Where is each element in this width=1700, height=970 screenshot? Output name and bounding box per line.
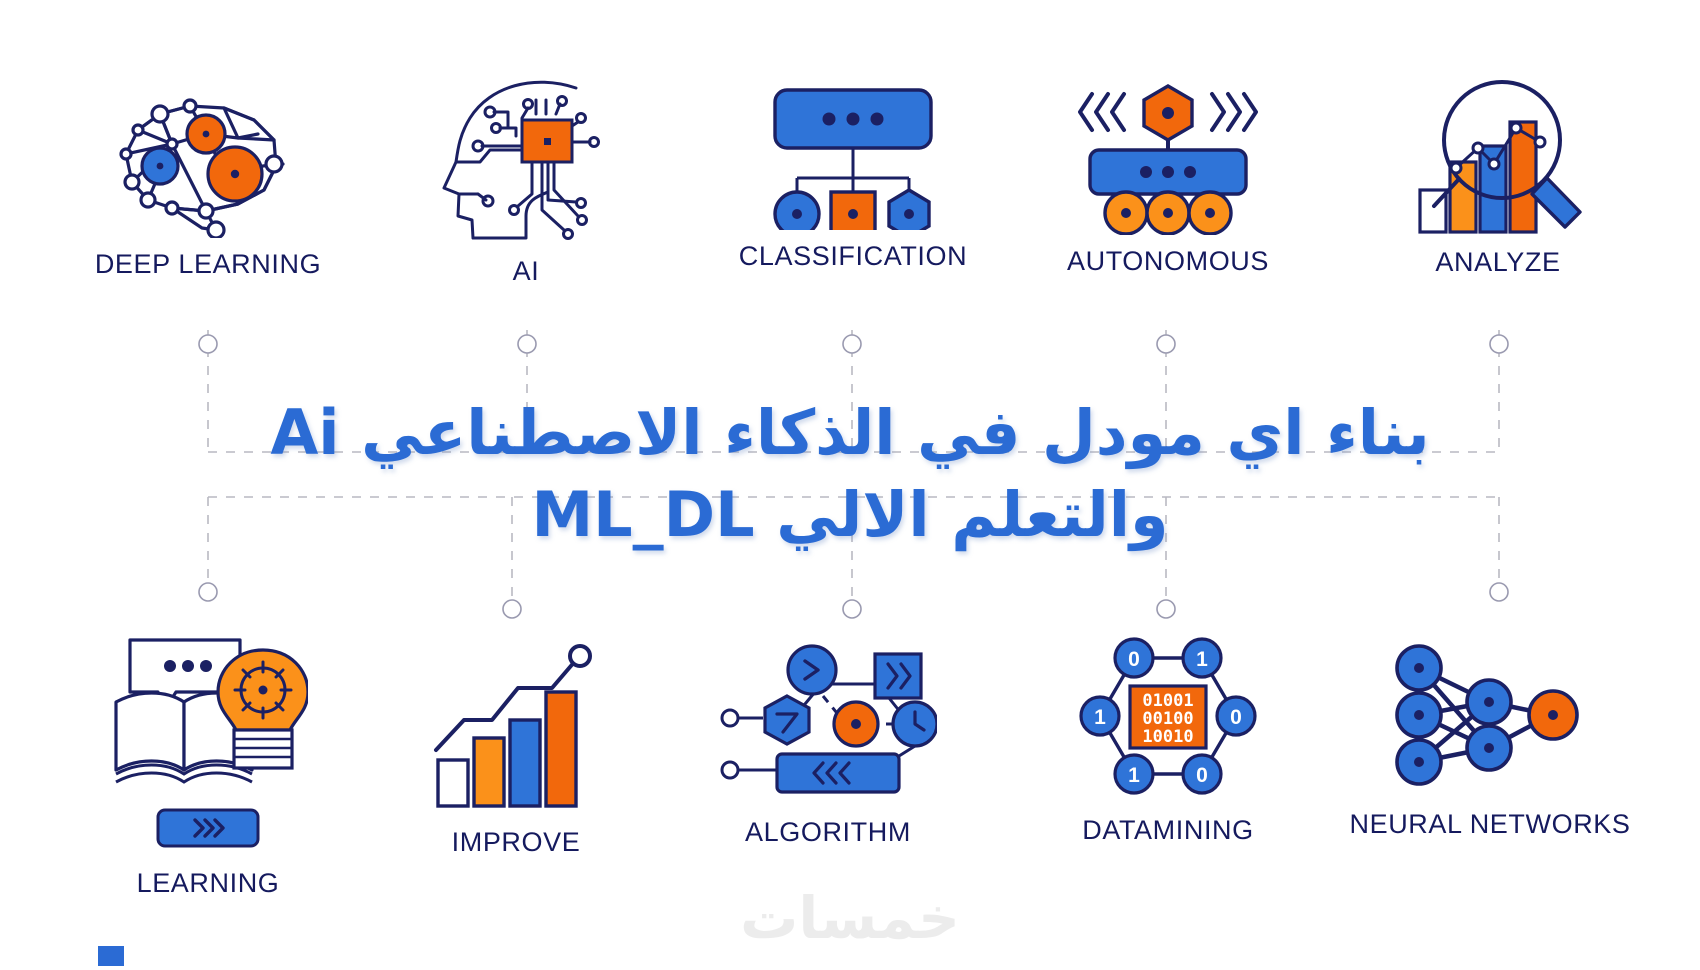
- icon-cell-neural-networks[interactable]: NEURAL NETWORKS: [1330, 640, 1650, 840]
- icon-cell-algorithm[interactable]: ALGORITHM: [680, 644, 976, 848]
- icon-cell-autonomous[interactable]: AUTONOMOUS: [1020, 80, 1316, 277]
- book-bulb-icon: [108, 630, 308, 803]
- neural-net-icon: [1395, 640, 1585, 795]
- learning-chevron-button[interactable]: [155, 807, 261, 854]
- icon-label-classification: CLASSIFICATION: [739, 241, 967, 272]
- icon-cell-deep-learning[interactable]: DEEP LEARNING: [72, 78, 344, 280]
- binary-line-3: 10010: [1142, 727, 1193, 747]
- icon-label-improve: IMPROVE: [452, 827, 581, 858]
- icon-label-deep-learning: DEEP LEARNING: [95, 249, 321, 280]
- page-title-line1: بناء اي مودل في الذكاء الاصطناعي Ai: [0, 392, 1700, 474]
- icon-label-neural-networks: NEURAL NETWORKS: [1349, 809, 1630, 840]
- icon-cell-classification[interactable]: CLASSIFICATION: [705, 80, 1001, 272]
- binary-line-1: 01001: [1142, 691, 1193, 711]
- growth-bars-icon: [426, 642, 606, 815]
- node-value-1: 1: [1196, 648, 1208, 671]
- binary-hexnode-icon: 01001 00100 10010 0 1 1 0 1: [1078, 636, 1258, 801]
- icon-cell-ai[interactable]: AI: [390, 70, 662, 287]
- corner-marker: [98, 946, 124, 966]
- magnifier-chart-icon: [1398, 78, 1598, 241]
- flowchart-icon: [719, 644, 937, 805]
- binary-line-2: 00100: [1142, 709, 1193, 729]
- node-value-5: 0: [1196, 764, 1208, 787]
- icon-label-analyze: ANALYZE: [1435, 247, 1560, 278]
- icon-cell-improve[interactable]: IMPROVE: [380, 642, 652, 858]
- autonomous-rover-icon: [1068, 80, 1268, 240]
- icon-cell-learning[interactable]: LEARNING: [72, 630, 344, 899]
- poster-canvas: DEEP LEARNING: [0, 0, 1700, 970]
- icon-label-autonomous: AUTONOMOUS: [1067, 246, 1269, 277]
- node-value-2: 1: [1094, 706, 1106, 729]
- page-title: بناء اي مودل في الذكاء الاصطناعي Ai والت…: [0, 392, 1700, 556]
- icon-label-algorithm: ALGORITHM: [745, 817, 911, 848]
- icon-cell-analyze[interactable]: ANALYZE: [1348, 78, 1648, 278]
- classification-tree-icon: [753, 80, 953, 235]
- icon-label-ai: AI: [513, 256, 540, 287]
- icon-cell-datamining[interactable]: 01001 00100 10010 0 1 1 0 1: [1020, 636, 1316, 846]
- node-value-3: 0: [1230, 706, 1242, 729]
- watermark-khamsat: خمسات: [0, 884, 1700, 952]
- brain-network-icon: [98, 78, 318, 243]
- node-value-0: 0: [1128, 648, 1140, 671]
- node-value-4: 1: [1128, 764, 1140, 787]
- head-chip-icon: [426, 70, 626, 250]
- page-title-line2: والتعلم الالي ML_DL: [0, 474, 1700, 556]
- icon-label-datamining: DATAMINING: [1082, 815, 1254, 846]
